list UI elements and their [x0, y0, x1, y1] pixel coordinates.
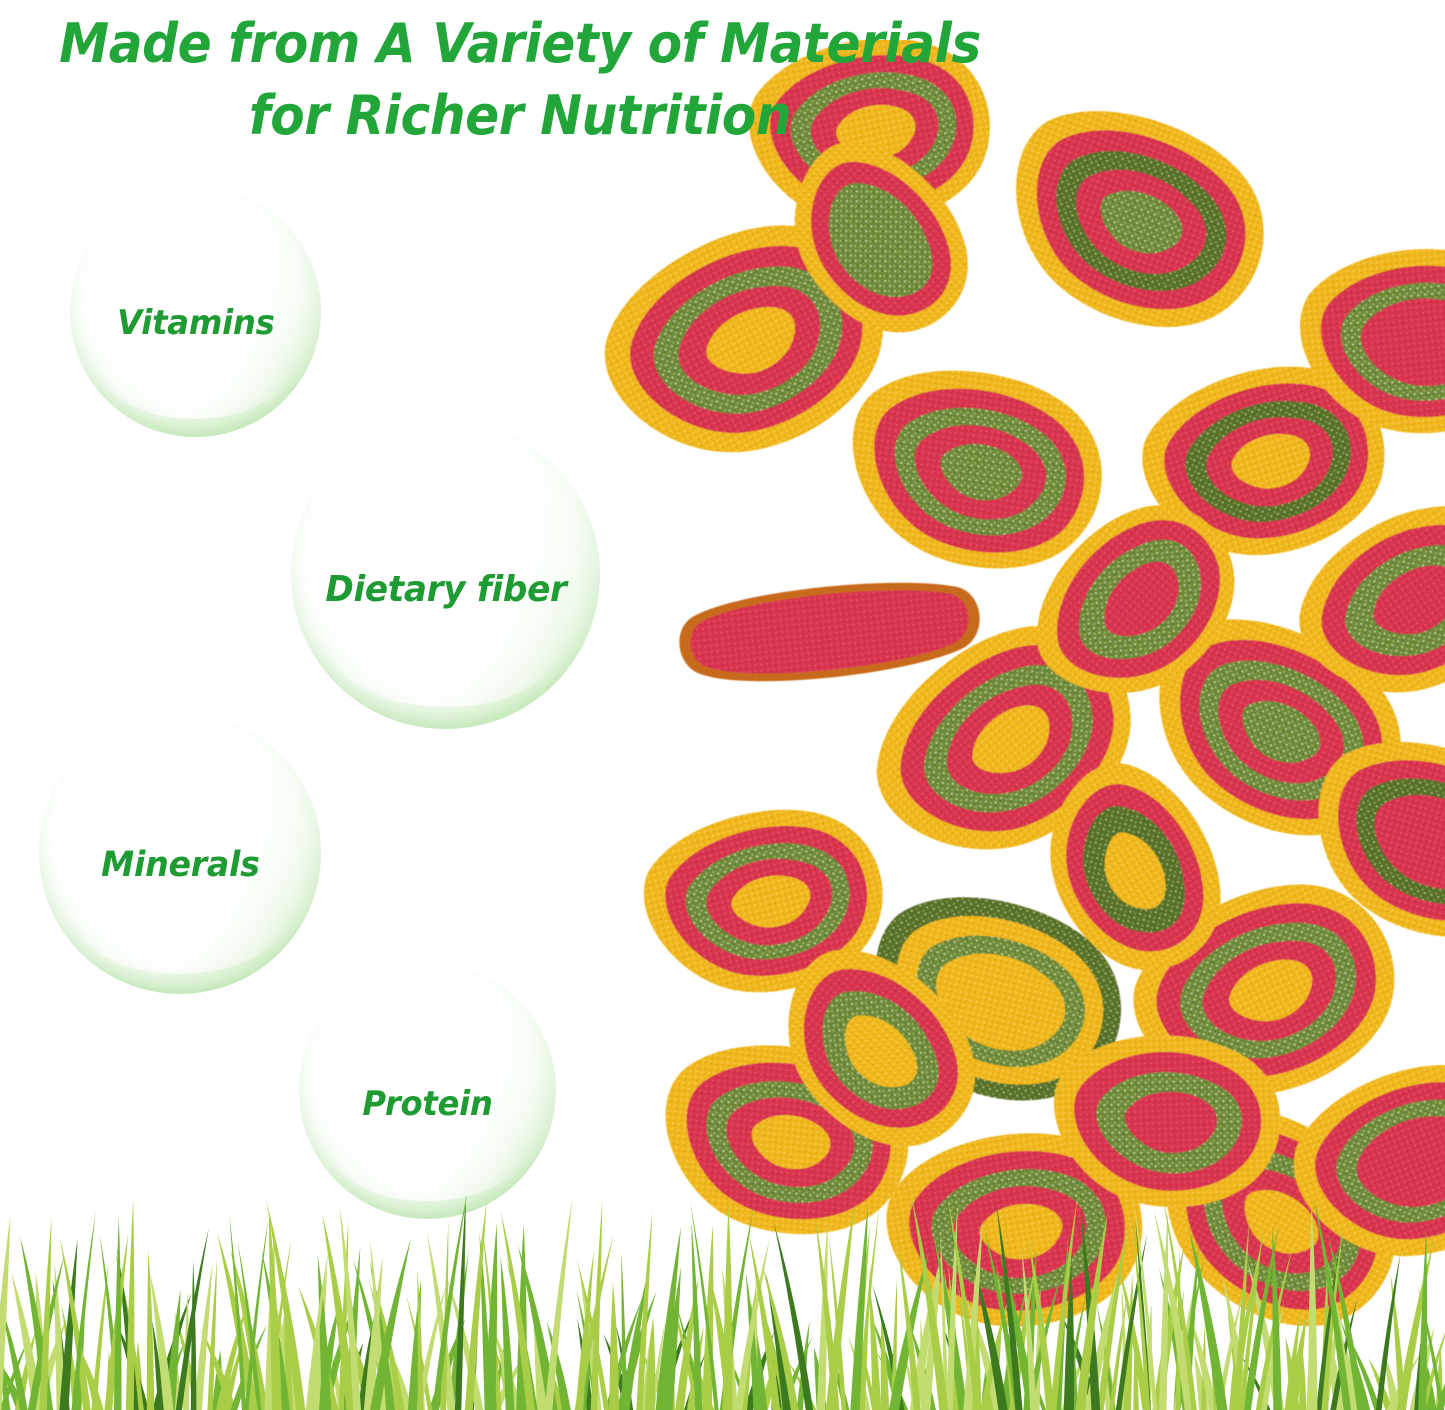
- benefit-label-vitamins: Vitamins: [117, 303, 274, 343]
- benefit-bubble-minerals: Minerals: [39, 712, 321, 994]
- benefit-label-minerals: Minerals: [101, 845, 259, 885]
- grass-blade: [114, 1217, 122, 1410]
- benefit-bubble-dietary-fiber: Dietary fiber: [291, 420, 600, 729]
- grass-blade: [609, 1282, 619, 1410]
- grass-foreground: [0, 1180, 1445, 1410]
- benefit-label-dietary-fiber: Dietary fiber: [325, 569, 566, 610]
- benefit-label-protein: Protein: [362, 1084, 492, 1124]
- grass-blade: [1308, 1205, 1318, 1410]
- product-infographic: Made from A Variety of Materials for Ric…: [0, 0, 1445, 1410]
- grass-blade: [722, 1204, 732, 1410]
- spiral-pet-treats-image: [580, 40, 1445, 1340]
- benefit-bubble-vitamins: Vitamins: [70, 186, 321, 437]
- grass-blade: [455, 1194, 466, 1410]
